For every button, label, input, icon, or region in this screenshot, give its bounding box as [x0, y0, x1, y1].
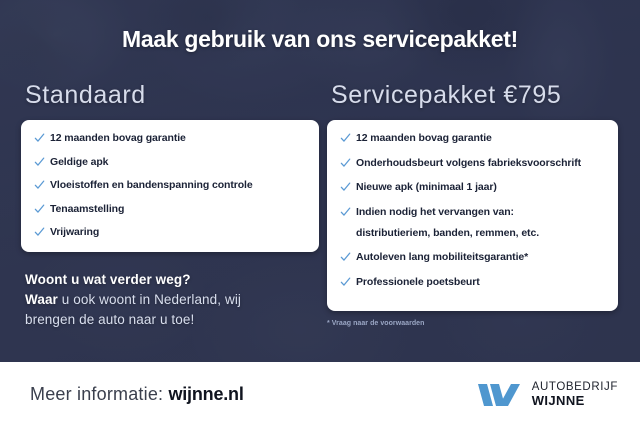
column-servicepakket: Servicepakket €795 12 maanden bovag gara… [327, 80, 618, 311]
check-icon [34, 179, 45, 191]
check-icon [340, 251, 351, 263]
column-title-servicepakket: Servicepakket €795 [331, 80, 618, 110]
list-item-label: Indien nodig het vervangen van: [356, 206, 514, 218]
check-icon [34, 203, 45, 215]
list-item-label: Onderhoudsbeurt volgens fabrieksvoorschr… [356, 157, 605, 170]
logo-line-wijnne: WIJNNE [532, 394, 618, 407]
column-standaard: Standaard 12 maanden bovag garantie Geld… [21, 80, 319, 252]
website-link[interactable]: wijnne.nl [168, 384, 243, 404]
list-item: Onderhoudsbeurt volgens fabrieksvoorschr… [340, 157, 605, 170]
page-title: Maak gebruik van ons servicepakket! [0, 26, 640, 53]
list-item-label: Vloeistoffen en bandenspanning controle [50, 179, 306, 192]
list-item: Autoleven lang mobiliteitsgarantie* [340, 251, 605, 264]
promo-line-1: Woont u wat verder weg? [25, 270, 325, 290]
feature-card-standaard: 12 maanden bovag garantie Geldige apk Vl… [21, 120, 319, 252]
footer-bar: Meer informatie: wijnne.nl AUTOBEDRIJF W… [0, 362, 640, 427]
list-item-sublabel: distributieriem, banden, remmen, etc. [356, 227, 605, 240]
feature-list-standaard: 12 maanden bovag garantie Geldige apk Vl… [34, 132, 306, 239]
list-item-label: Professionele poetsbeurt [356, 276, 605, 289]
list-item: Geldige apk [34, 156, 306, 169]
more-info-text: Meer informatie: wijnne.nl [30, 384, 244, 405]
list-item: Tenaamstelling [34, 203, 306, 216]
check-icon [340, 276, 351, 288]
promo-line-2: Waar u ook woont in Nederland, wij [25, 290, 325, 310]
logo-wordmark: AUTOBEDRIJF WIJNNE [532, 382, 618, 408]
list-item-label: Vrijwaring [50, 226, 306, 239]
promo-line-3: brengen de auto naar u toe! [25, 310, 325, 330]
feature-card-servicepakket: 12 maanden bovag garantie Onderhoudsbeur… [327, 120, 618, 311]
list-item: Professionele poetsbeurt [340, 276, 605, 289]
check-icon [340, 181, 351, 193]
column-title-standaard: Standaard [25, 80, 319, 110]
list-item: 12 maanden bovag garantie [340, 132, 605, 145]
check-icon [34, 226, 45, 238]
check-icon [34, 156, 45, 168]
logo-line-autobedrijf: AUTOBEDRIJF [532, 382, 618, 394]
list-item-label: Tenaamstelling [50, 203, 306, 216]
terms-footnote: * Vraag naar de voorwaarden [327, 320, 424, 327]
list-item-label: Autoleven lang mobiliteitsgarantie* [356, 251, 605, 264]
promo-question: Woont u wat verder weg? [25, 272, 191, 287]
list-item-label: 12 maanden bovag garantie [356, 132, 605, 145]
feature-list-servicepakket: 12 maanden bovag garantie Onderhoudsbeur… [340, 132, 605, 289]
service-package-banner: Maak gebruik van ons servicepakket! Stan… [0, 0, 640, 427]
check-icon [340, 132, 351, 144]
brand-logo[interactable]: AUTOBEDRIJF WIJNNE [478, 382, 618, 408]
list-item-label: Geldige apk [50, 156, 306, 169]
list-item-label-group: Indien nodig het vervangen van: distribu… [356, 206, 605, 240]
list-item-label: 12 maanden bovag garantie [50, 132, 306, 145]
check-icon [340, 157, 351, 169]
list-item: Vrijwaring [34, 226, 306, 239]
list-item: Nieuwe apk (minimaal 1 jaar) [340, 181, 605, 194]
delivery-promo-text: Woont u wat verder weg? Waar u ook woont… [25, 270, 325, 330]
promo-line-2-rest: u ook woont in Nederland, wij [58, 292, 241, 307]
list-item: 12 maanden bovag garantie [34, 132, 306, 145]
list-item: Indien nodig het vervangen van: distribu… [340, 206, 605, 240]
promo-emphasis: Waar [25, 292, 58, 307]
more-info-label: Meer informatie: [30, 384, 163, 404]
check-icon [34, 132, 45, 144]
list-item: Vloeistoffen en bandenspanning controle [34, 179, 306, 192]
wijnne-w-mark-icon [478, 382, 524, 408]
list-item-label: Nieuwe apk (minimaal 1 jaar) [356, 181, 605, 194]
check-icon [340, 206, 351, 218]
